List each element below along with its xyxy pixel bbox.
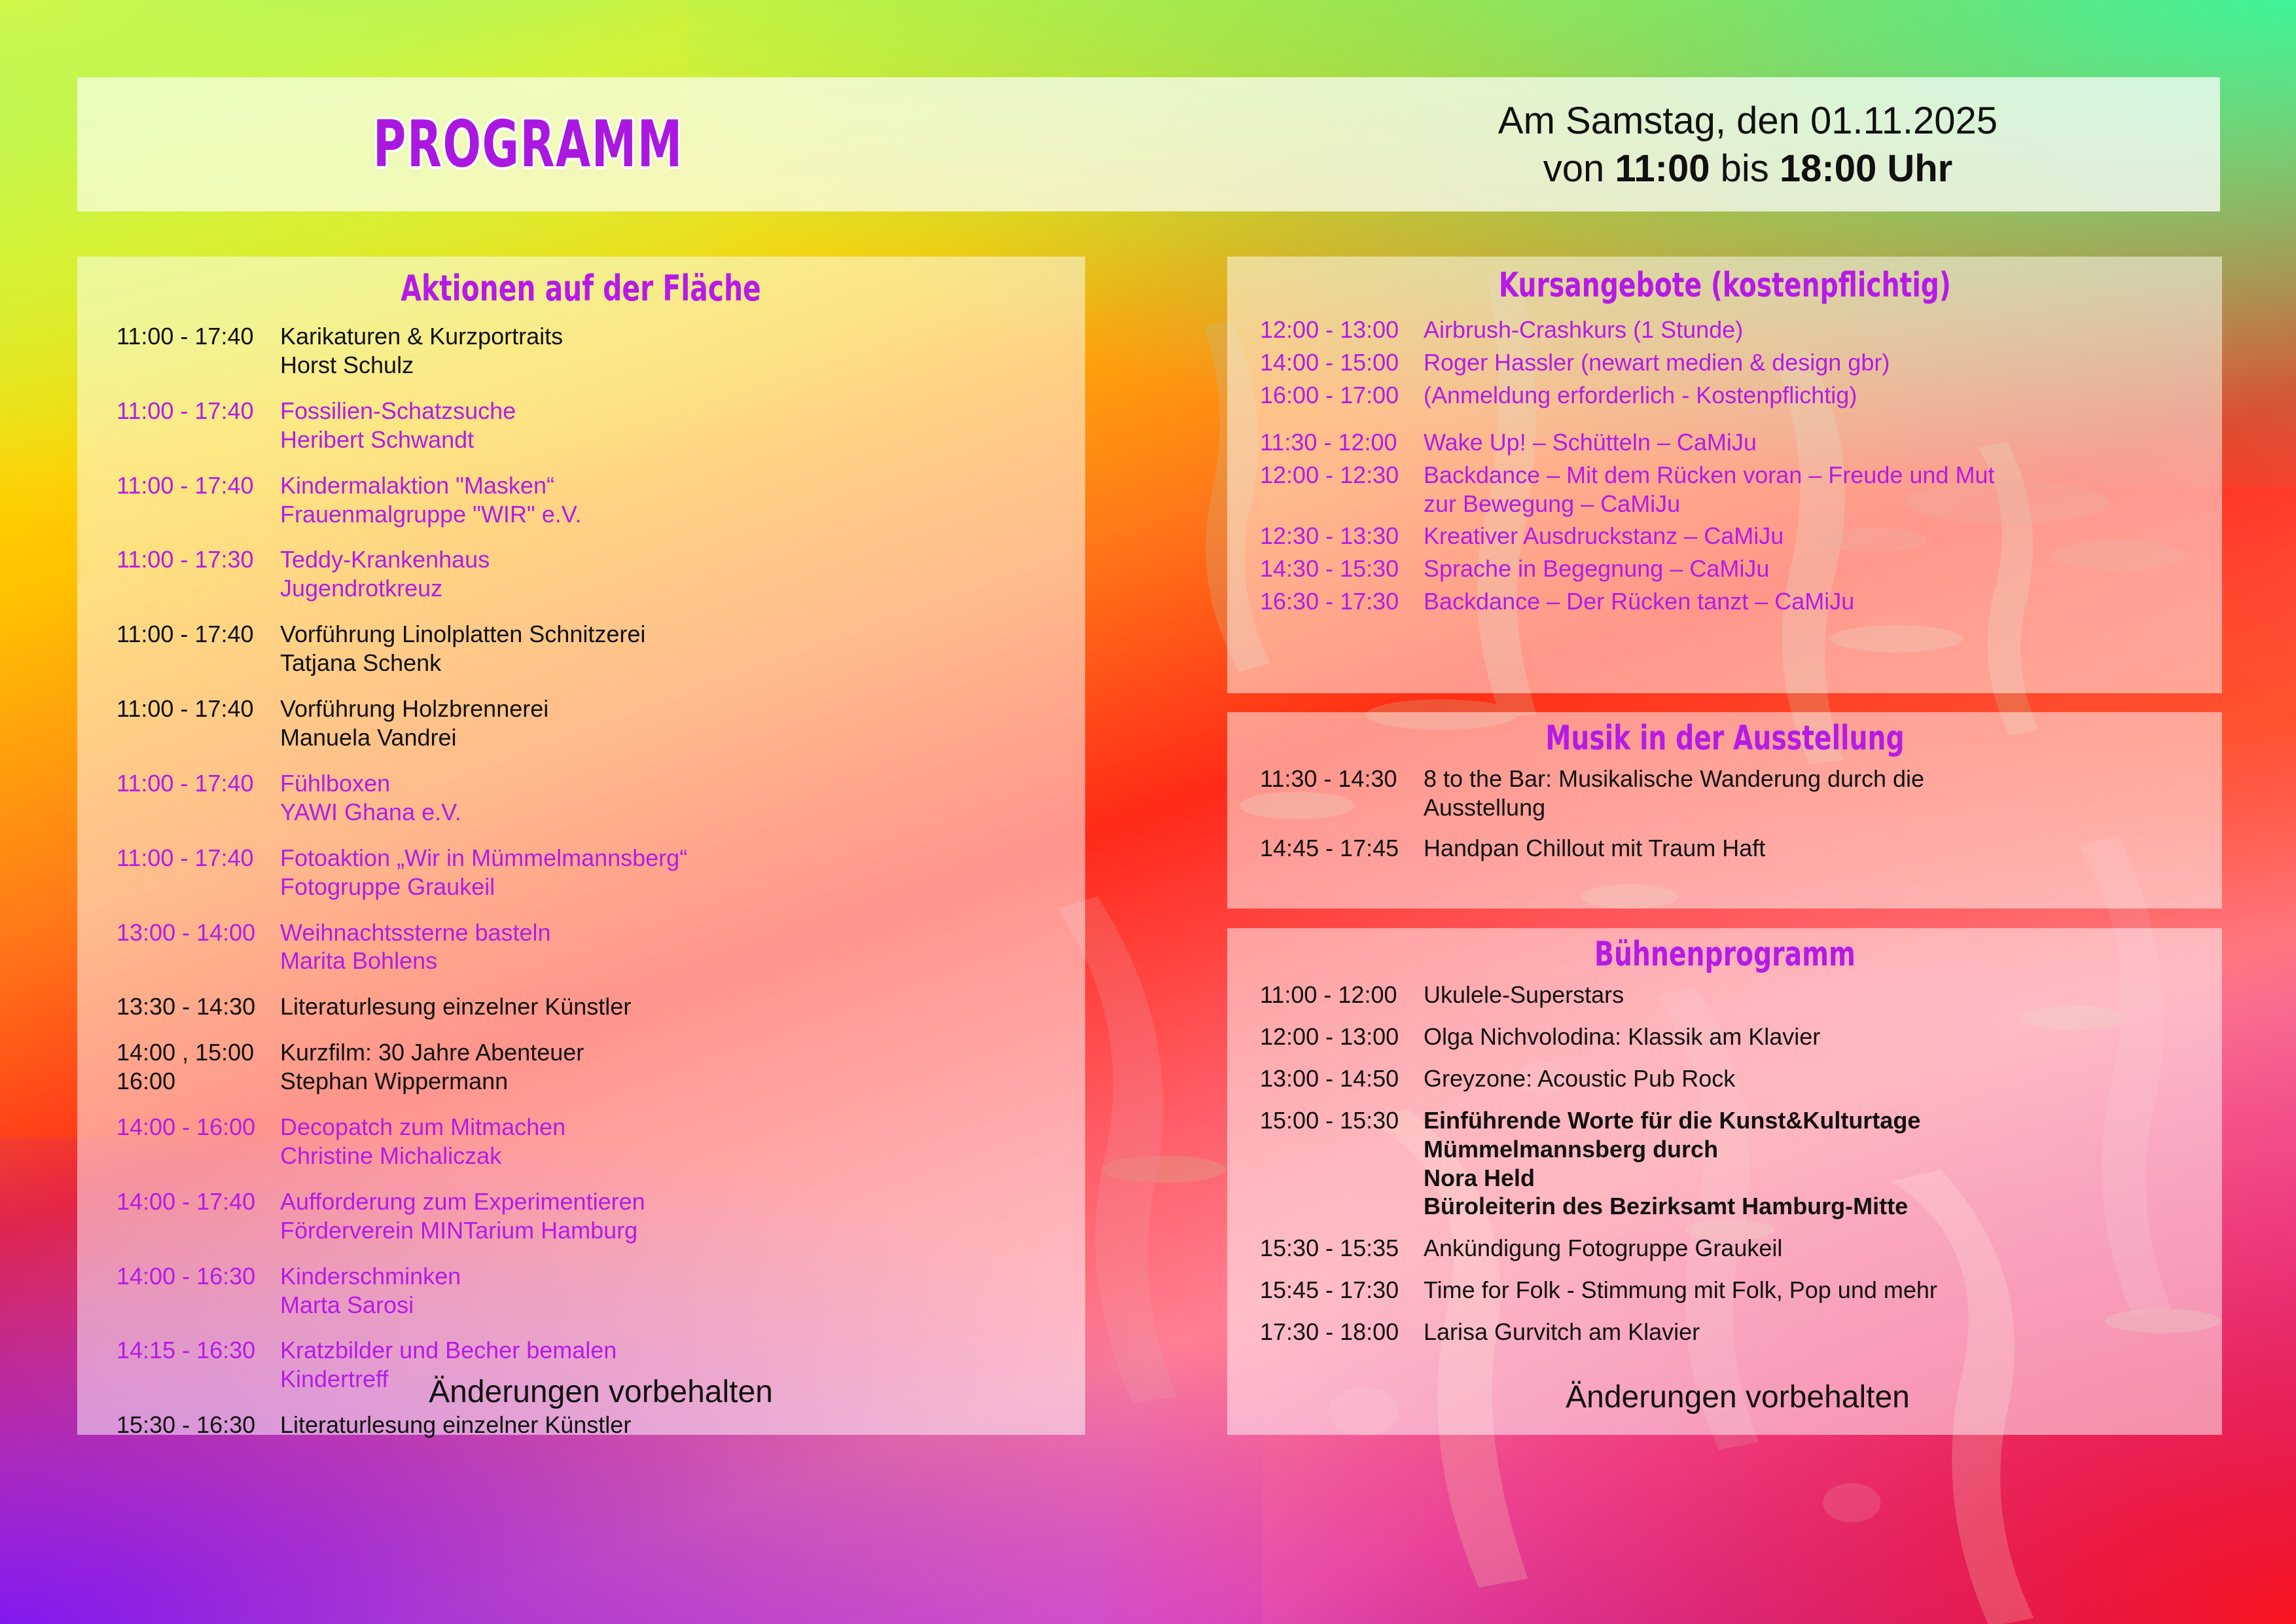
section-title-kurse: Kursangebote (kostenpflichtig) xyxy=(1227,268,2222,302)
schedule-list-kurse: 12:00 - 13:00Airbrush-Crashkurs (1 Stund… xyxy=(1227,316,2222,616)
schedule-row: 11:30 - 14:308 to the Bar: Musikalische … xyxy=(1260,765,2222,822)
event-date-block: Am Samstag, den 01.11.2025 von 11:00 bis… xyxy=(1498,96,1998,192)
schedule-row-time: 12:00 - 13:00 xyxy=(1260,316,1410,344)
schedule-row: 12:00 - 13:00Olga Nichvolodina: Klassik … xyxy=(1260,1022,2222,1051)
schedule-row: 15:45 - 17:30Time for Folk - Stimmung mi… xyxy=(1260,1276,2222,1305)
schedule-row-description: Handpan Chillout mit Traum Haft xyxy=(1424,834,2222,863)
footnote-flaeche: Änderungen vorbehalten xyxy=(77,1374,1085,1410)
schedule-row-time: 17:30 - 18:00 xyxy=(1260,1318,1410,1346)
schedule-row-time: 13:30 - 14:30 xyxy=(117,992,267,1021)
footnote-buehne: Änderungen vorbehalten xyxy=(1227,1379,2222,1415)
schedule-row: 11:00 - 12:00Ukulele-Superstars xyxy=(1260,981,2222,1009)
schedule-list-flaeche: 11:00 - 17:40Karikaturen & Kurzportraits… xyxy=(77,322,1085,1439)
schedule-row-description: Karikaturen & Kurzportraits Horst Schulz xyxy=(280,322,1085,380)
schedule-row-description: Roger Hassler (newart medien & design gb… xyxy=(1424,348,2222,377)
schedule-row-description: Vorführung Holzbrennerei Manuela Vandrei xyxy=(280,695,1085,752)
schedule-row-description: Einführende Worte für die Kunst&Kulturta… xyxy=(1424,1106,2222,1221)
section-title-flaeche: Aktionen auf der Fläche xyxy=(77,271,1085,306)
schedule-row-description: Fotoaktion „Wir in Mümmelmannsberg“ Foto… xyxy=(280,844,1085,901)
section-kursangebote: Kursangebote (kostenpflichtig) 12:00 - 1… xyxy=(1227,257,2222,693)
schedule-row-description: Fühlboxen YAWI Ghana e.V. xyxy=(280,769,1085,827)
schedule-row-description: Literaturlesung einzelner Künstler xyxy=(280,1411,1085,1439)
schedule-row-time: 11:00 - 17:40 xyxy=(117,769,267,798)
schedule-row-description: Kurzfilm: 30 Jahre Abenteuer Stephan Wip… xyxy=(280,1038,1085,1096)
schedule-row: 11:00 - 17:40Fotoaktion „Wir in Mümmelma… xyxy=(117,844,1085,901)
schedule-row-description: Teddy-Krankenhaus Jugendrotkreuz xyxy=(280,545,1085,603)
schedule-row-description: Ukulele-Superstars xyxy=(1424,981,2222,1009)
schedule-row-time: 11:00 - 17:30 xyxy=(117,545,267,574)
schedule-row: 16:00 - 17:00(Anmeldung erforderlich - K… xyxy=(1260,381,2222,410)
schedule-row-description: Greyzone: Acoustic Pub Rock xyxy=(1424,1064,2222,1093)
schedule-row-time: 15:30 - 16:30 xyxy=(117,1411,267,1439)
schedule-row-time: 14:00 , 15:00 16:00 xyxy=(117,1038,267,1096)
schedule-row-time: 13:00 - 14:00 xyxy=(117,918,267,947)
section-title-musik: Musik in der Ausstellung xyxy=(1227,721,2222,755)
schedule-row-description: Weihnachtssterne basteln Marita Bohlens xyxy=(280,918,1085,976)
schedule-row-time: 14:00 - 15:00 xyxy=(1260,348,1410,377)
schedule-row: 12:30 - 13:30Kreativer Ausdruckstanz – C… xyxy=(1260,522,2222,550)
schedule-row-time: 16:30 - 17:30 xyxy=(1260,587,1410,616)
schedule-row-time: 11:00 - 17:40 xyxy=(117,471,267,500)
schedule-row: 14:00 - 15:00Roger Hassler (newart medie… xyxy=(1260,348,2222,377)
schedule-row: 13:30 - 14:30Literaturlesung einzelner K… xyxy=(117,992,1085,1021)
schedule-row-time: 11:00 - 12:00 xyxy=(1260,981,1410,1009)
schedule-row: 11:00 - 17:30Teddy-Krankenhaus Jugendrot… xyxy=(117,545,1085,603)
schedule-row-time: 11:00 - 17:40 xyxy=(117,695,267,723)
schedule-row-time: 12:00 - 13:00 xyxy=(1260,1022,1410,1051)
poster-canvas: PROGRAMM Am Samstag, den 01.11.2025 von … xyxy=(0,0,2296,1624)
event-hours-prefix: von xyxy=(1543,147,1615,190)
schedule-row-description: 8 to the Bar: Musikalische Wanderung dur… xyxy=(1424,765,2222,822)
header-band: PROGRAMM Am Samstag, den 01.11.2025 von … xyxy=(77,77,2220,211)
schedule-row: 16:30 - 17:30Backdance – Der Rücken tanz… xyxy=(1260,587,2222,616)
schedule-row: 11:00 - 17:40Fossilien-Schatzsuche Herib… xyxy=(117,397,1085,454)
schedule-row: 14:00 , 15:00 16:00Kurzfilm: 30 Jahre Ab… xyxy=(117,1038,1085,1096)
schedule-row: 12:00 - 12:30Backdance – Mit dem Rücken … xyxy=(1260,461,2222,518)
schedule-row: 15:30 - 16:30Literaturlesung einzelner K… xyxy=(117,1411,1085,1439)
section-buehnenprogramm: Bühnenprogramm 11:00 - 12:00Ukulele-Supe… xyxy=(1227,928,2222,1435)
schedule-row-time: 14:45 - 17:45 xyxy=(1260,834,1410,863)
section-title-flaeche-text: Aktionen auf der Fläche xyxy=(401,271,761,306)
schedule-row-description: Ankündigung Fotogruppe Graukeil xyxy=(1424,1234,2222,1263)
schedule-row-description: Airbrush-Crashkurs (1 Stunde) xyxy=(1424,316,2222,344)
event-hours-line: von 11:00 bis 18:00 Uhr xyxy=(1498,145,1998,192)
schedule-row-time: 14:15 - 16:30 xyxy=(117,1336,267,1365)
schedule-row: 11:00 - 17:40Vorführung Holzbrennerei Ma… xyxy=(117,695,1085,752)
event-hours-mid: bis xyxy=(1710,147,1779,190)
schedule-row: 15:00 - 15:30Einführende Worte für die K… xyxy=(1260,1106,2222,1221)
schedule-row: 11:00 - 17:40Vorführung Linolplatten Sch… xyxy=(117,620,1085,677)
schedule-row-description: Time for Folk - Stimmung mit Folk, Pop u… xyxy=(1424,1276,2222,1305)
section-title-buehne-text: Bühnenprogramm xyxy=(1594,937,1855,971)
schedule-list-buehne: 11:00 - 12:00Ukulele-Superstars12:00 - 1… xyxy=(1227,981,2222,1346)
section-aktionen-auf-der-flaeche: Aktionen auf der Fläche 11:00 - 17:40Kar… xyxy=(77,257,1085,1435)
schedule-row: 14:00 - 16:30Kinderschminken Marta Saros… xyxy=(117,1262,1085,1320)
schedule-row-time: 14:30 - 15:30 xyxy=(1260,554,1410,583)
schedule-row-time: 14:00 - 16:30 xyxy=(117,1262,267,1291)
schedule-row-description: Aufforderung zum Experimentieren Förderv… xyxy=(280,1187,1085,1245)
schedule-row-time: 14:00 - 16:00 xyxy=(117,1113,267,1142)
schedule-row-description: Kinderschminken Marta Sarosi xyxy=(280,1262,1085,1320)
schedule-row: 11:30 - 12:00Wake Up! – Schütteln – CaMi… xyxy=(1260,428,2222,457)
schedule-row-description: Kindermalaktion "Masken“ Frauenmalgruppe… xyxy=(280,471,1085,529)
schedule-row: 14:00 - 16:00Decopatch zum Mitmachen Chr… xyxy=(117,1113,1085,1170)
schedule-row-description: Larisa Gurvitch am Klavier xyxy=(1424,1318,2222,1346)
page-title: PROGRAMM xyxy=(373,107,770,182)
schedule-row: 11:00 - 17:40Fühlboxen YAWI Ghana e.V. xyxy=(117,769,1085,827)
schedule-row: 13:00 - 14:00Weihnachtssterne basteln Ma… xyxy=(117,918,1085,976)
schedule-row: 14:30 - 15:30Sprache in Begegnung – CaMi… xyxy=(1260,554,2222,583)
schedule-row-time: 15:00 - 15:30 xyxy=(1260,1106,1410,1135)
schedule-row-time: 16:00 - 17:00 xyxy=(1260,381,1410,410)
schedule-row-description: Vorführung Linolplatten Schnitzerei Tatj… xyxy=(280,620,1085,677)
section-musik-in-der-ausstellung: Musik in der Ausstellung 11:30 - 14:308 … xyxy=(1227,712,2222,909)
schedule-row-time: 11:30 - 12:00 xyxy=(1260,428,1410,457)
schedule-row-time: 15:45 - 17:30 xyxy=(1260,1276,1410,1305)
schedule-row-description: Literaturlesung einzelner Künstler xyxy=(280,992,1085,1021)
section-title-buehne: Bühnenprogramm xyxy=(1227,937,2222,971)
schedule-row-description: Olga Nichvolodina: Klassik am Klavier xyxy=(1424,1022,2222,1051)
schedule-row-time: 11:00 - 17:40 xyxy=(117,397,267,425)
schedule-row-time: 11:00 - 17:40 xyxy=(117,322,267,351)
schedule-row-description: (Anmeldung erforderlich - Kostenpflichti… xyxy=(1424,381,2222,410)
schedule-row-time: 13:00 - 14:50 xyxy=(1260,1064,1410,1093)
schedule-row: 14:45 - 17:45Handpan Chillout mit Traum … xyxy=(1260,834,2222,863)
schedule-list-musik: 11:30 - 14:308 to the Bar: Musikalische … xyxy=(1227,765,2222,863)
event-end-time: 18:00 Uhr xyxy=(1780,147,1952,190)
schedule-row-description: Decopatch zum Mitmachen Christine Michal… xyxy=(280,1113,1085,1170)
page-title-text: PROGRAMM xyxy=(373,107,683,182)
schedule-row: 14:00 - 17:40Aufforderung zum Experiment… xyxy=(117,1187,1085,1245)
schedule-row-description: Backdance – Mit dem Rücken voran – Freud… xyxy=(1424,461,2222,518)
schedule-row: 13:00 - 14:50Greyzone: Acoustic Pub Rock xyxy=(1260,1064,2222,1093)
section-title-musik-text: Musik in der Ausstellung xyxy=(1545,721,1904,755)
schedule-row: 12:00 - 13:00Airbrush-Crashkurs (1 Stund… xyxy=(1260,316,2222,344)
event-date-line: Am Samstag, den 01.11.2025 xyxy=(1498,99,1998,141)
schedule-row-description: Kreativer Ausdruckstanz – CaMiJu xyxy=(1424,522,2222,550)
schedule-row-time: 14:00 - 17:40 xyxy=(117,1187,267,1216)
section-title-kurse-text: Kursangebote (kostenpflichtig) xyxy=(1498,268,1950,302)
schedule-row: 11:00 - 17:40Karikaturen & Kurzportraits… xyxy=(117,322,1085,380)
schedule-row-time: 12:30 - 13:30 xyxy=(1260,522,1410,550)
schedule-row-time: 12:00 - 12:30 xyxy=(1260,461,1410,490)
schedule-row-time: 15:30 - 15:35 xyxy=(1260,1234,1410,1263)
schedule-row-description: Sprache in Begegnung – CaMiJu xyxy=(1424,554,2222,583)
schedule-row-time: 11:00 - 17:40 xyxy=(117,620,267,649)
schedule-row-description: Fossilien-Schatzsuche Heribert Schwandt xyxy=(280,397,1085,454)
schedule-row: 17:30 - 18:00Larisa Gurvitch am Klavier xyxy=(1260,1318,2222,1346)
schedule-row-description: Backdance – Der Rücken tanzt – CaMiJu xyxy=(1424,587,2222,616)
event-start-time: 11:00 xyxy=(1615,147,1710,190)
schedule-row: 15:30 - 15:35Ankündigung Fotogruppe Grau… xyxy=(1260,1234,2222,1263)
schedule-row-time: 11:30 - 14:30 xyxy=(1260,765,1410,793)
schedule-row-time: 11:00 - 17:40 xyxy=(117,844,267,873)
schedule-row: 11:00 - 17:40Kindermalaktion "Masken“ Fr… xyxy=(117,471,1085,529)
schedule-row-description: Wake Up! – Schütteln – CaMiJu xyxy=(1424,428,2222,457)
